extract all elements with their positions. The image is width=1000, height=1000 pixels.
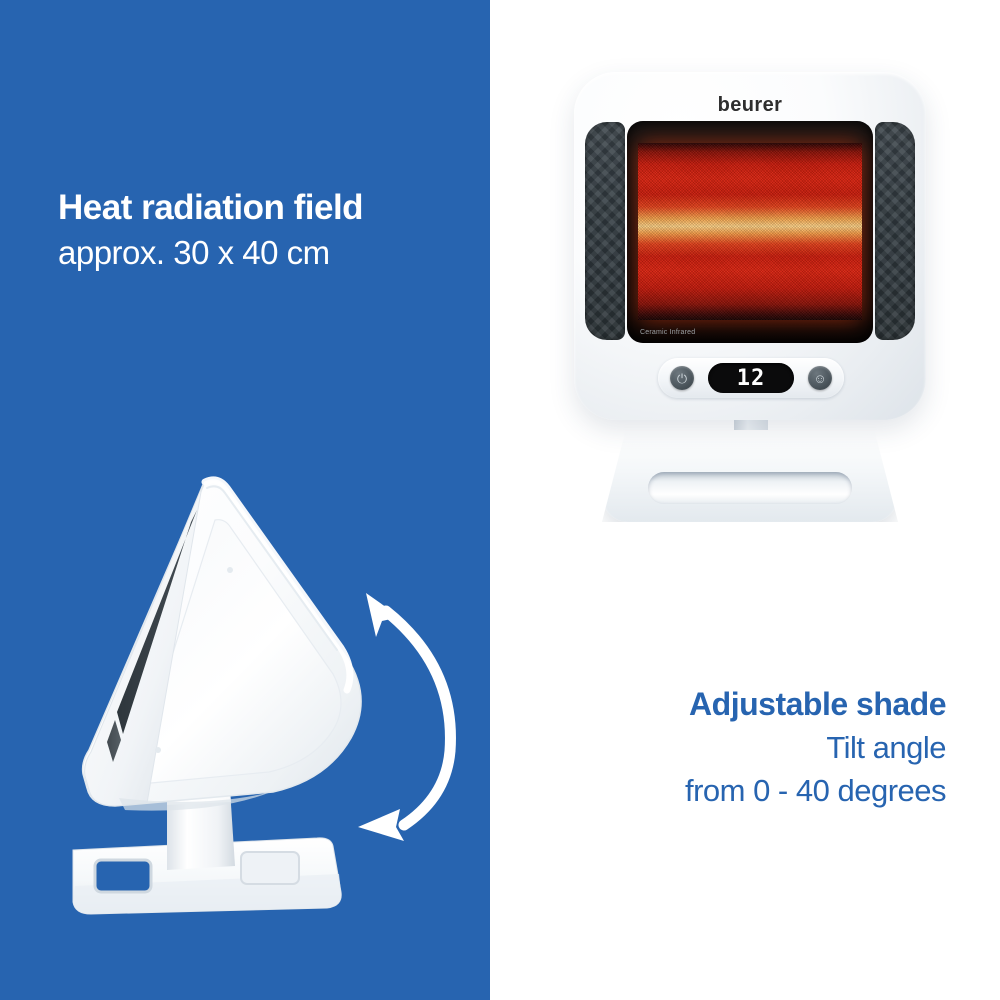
timer-button[interactable]: ☺ (808, 366, 832, 390)
infrared-heater-front-view: beurer Ceramic Infrared ⏻ 12 ☺ (574, 72, 926, 422)
adjustable-shade-title: Adjustable shade (526, 682, 946, 726)
tilt-rotation-arrow (300, 575, 500, 845)
heat-radiation-caption: Heat radiation field approx. 30 x 40 cm (58, 186, 458, 276)
heat-radiation-title: Heat radiation field (58, 186, 458, 230)
front-device-base-handle-slot (648, 472, 852, 504)
power-button[interactable]: ⏻ (670, 366, 694, 390)
timer-display-value: 12 (737, 366, 766, 391)
infrared-emitter-panel (638, 143, 862, 320)
adjustable-shade-caption: Adjustable shade Tilt angle from 0 - 40 … (526, 682, 946, 812)
control-bar: ⏻ 12 ☺ (658, 358, 844, 398)
tilt-range-line: from 0 - 40 degrees (526, 769, 946, 812)
timer-icon: ☺ (808, 366, 832, 390)
ceramic-infrared-label: Ceramic Infrared (640, 329, 695, 336)
heat-radiation-subtitle: approx. 30 x 40 cm (58, 230, 458, 276)
right-vent-grille (875, 122, 915, 340)
left-vent-grille (585, 122, 625, 340)
tilt-angle-line: Tilt angle (526, 726, 946, 769)
timer-display: 12 (708, 363, 794, 393)
emitter-bezel: Ceramic Infrared (627, 121, 873, 343)
power-icon: ⏻ (670, 366, 694, 390)
curved-double-arrow-icon (300, 575, 500, 845)
product-feature-image: Heat radiation field approx. 30 x 40 cm … (0, 0, 1000, 1000)
brand-logo: beurer (574, 94, 926, 117)
